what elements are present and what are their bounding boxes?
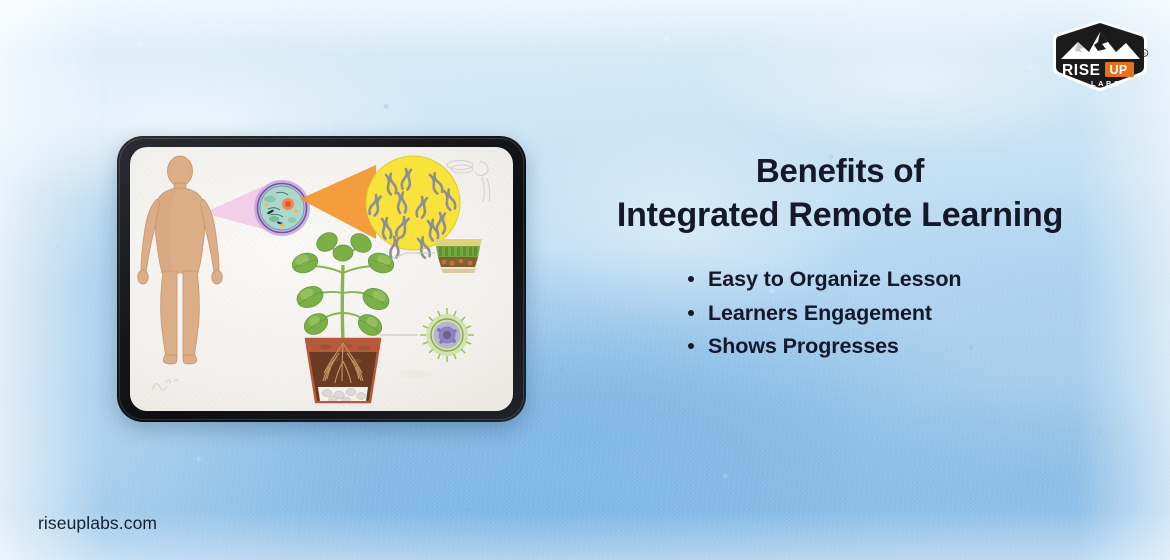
page-title-line1: Benefits of [756,152,924,189]
logo-svg: RISE UP LABS R [1048,18,1152,94]
svg-text:R: R [1143,51,1146,56]
list-item: Easy to Organize Lesson [684,263,1120,297]
page-title-line2: Integrated Remote Learning [560,193,1120,237]
clay-pot [306,339,380,403]
logo-up-text: UP [1110,63,1128,77]
potted-plant [290,229,397,403]
plant-cell [420,308,474,362]
zoom-cone-orange [300,165,376,239]
pencil-sketch-signature [152,380,178,391]
website-url[interactable]: riseuplabs.com [38,513,157,534]
tablet-screen[interactable] [130,147,513,411]
leaf-cross-section [435,239,482,273]
list-item: Learners Engagement [684,297,1120,331]
logo-rise-text: RISE [1062,62,1101,79]
biology-lesson-illustration [130,147,513,411]
page-title: Benefits of Integrated Remote Learning [560,150,1120,237]
text-content: Benefits of Integrated Remote Learning E… [560,150,1120,364]
animal-cell [254,180,310,236]
list-item: Shows Progresses [684,330,1120,364]
logo-labs-text: LABS [1091,79,1122,88]
riseup-labs-logo[interactable]: RISE UP LABS R [1048,18,1152,94]
human-body-figure [138,156,222,364]
tablet-device[interactable] [117,136,526,422]
benefits-list: Easy to Organize Lesson Learners Engagem… [684,263,1120,364]
